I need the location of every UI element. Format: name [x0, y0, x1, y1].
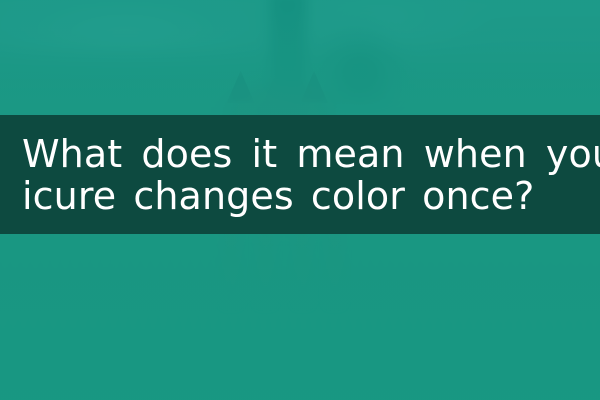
caption-line-1: What does it mean when your man	[0, 133, 600, 175]
caption-band: What does it mean when your man icure ch…	[0, 115, 600, 234]
question-card: What does it mean when your man icure ch…	[0, 0, 600, 400]
caption-line-2: icure changes color once?	[0, 175, 600, 217]
